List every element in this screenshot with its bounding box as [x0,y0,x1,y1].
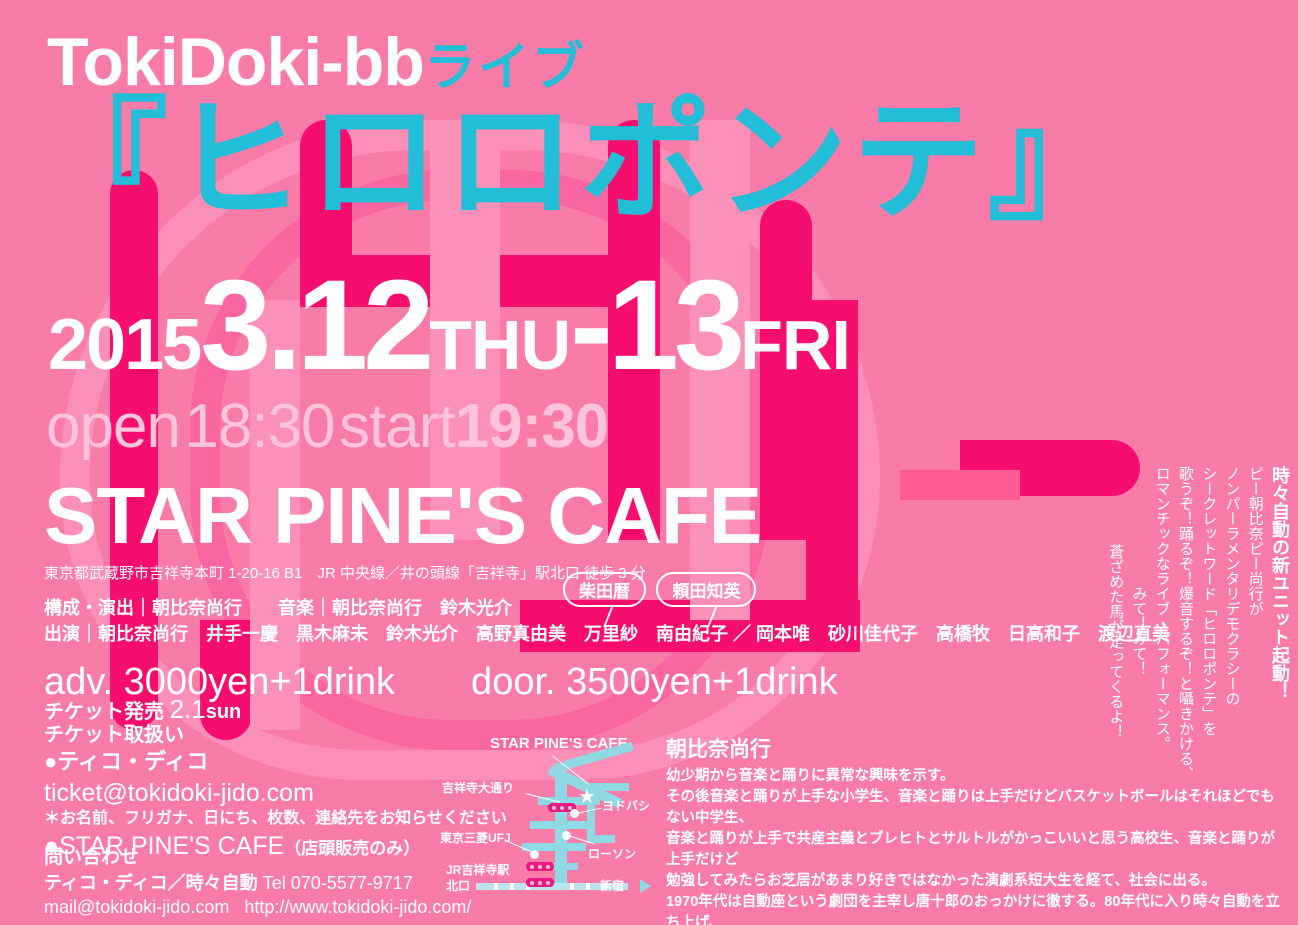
onsale-date: 2.1 [170,694,206,724]
date-dash: - [570,254,608,397]
brand-title: TokiDoki-bbライブ [47,28,586,96]
event-date: 20153.12THU-13FRI [48,262,850,390]
ticket-vendor-1-note: ＊お名前、フリガナ、日にち、枚数、連絡先をお知らせください [44,809,514,830]
map-label-yodobashi: ヨドバシ [602,797,650,814]
start-time: 19:30 [455,392,609,461]
contact-tel: 070-5577-9717 [291,873,413,893]
onsale-line: チケット発売 2.1sun [44,694,241,725]
bio-paragraph-1: その後音楽と踊りが上手な小学生、音楽と踊りは上手だけどバスケットボールはそれほど… [666,787,1282,829]
ribbon-highlight-4 [900,470,1020,500]
map-building-2 [526,862,554,871]
map-rail-tick [570,883,574,890]
bio-paragraph-4: 1970年代は自動座という劇団を主宰し唐十郎のおっかけに徹する。80年代に入り時… [666,892,1282,925]
vertical-column-5: ロマンチックなライブ・パフォーマンス。 [1151,466,1171,751]
show-title: 『ヒロロポンテ』 [36,96,1124,228]
map-rail-tick [586,883,590,890]
date-dow-second: FRI [740,306,850,384]
vertical-column-6: みて！みて！ [1128,586,1148,676]
date-dow-main: THU [429,306,570,384]
map-label-kitaguchi: 北口 [446,877,470,894]
guest-bubble-2-label: 頼田知英 [672,582,740,601]
credits-cast: 出演｜朝比奈尚行 井手一慶 黒木麻未 鈴木光介 高野真由美 万里紗 南由紀子 ／… [44,620,1170,646]
contact-block: 問い合わせ ティコ・ディコ／時々自動 Tel 070-5577-9717 mai… [44,845,514,919]
map-venue-star-icon: ★ [578,787,596,807]
artist-bio: 朝比奈尚行 幼少期から音楽と踊りに異常な興味を示す。 その後音楽と踊りが上手な小… [666,733,1282,925]
date-year: 2015 [48,305,200,385]
guest-bubble-1: 柴田暦 [563,572,646,607]
map-rail-tick [510,883,514,890]
show-times: open 18:30 start19:30 [46,396,608,458]
ticket-vendor-1: ●ティコ・ディコ [44,748,514,777]
contact-heading: 問い合わせ [44,845,514,871]
map-building-3 [526,878,554,887]
onsale-dow: sun [206,701,242,723]
guest-bubble-2: 頼田知英 [656,572,756,607]
onsale-label: チケット発売 [44,701,164,723]
vertical-column-0: 時々自動の新ユニット起動！ [1268,466,1292,700]
map-label-lawson: ローソン [588,845,636,862]
open-label: open [46,392,180,461]
contact-email[interactable]: mail@tokidoki-jido.com [44,897,229,917]
map-label-shinjuku: 新宿 [600,877,624,894]
map-direction-arrow-icon [640,879,651,893]
map-label-kichijoji-odori: 吉祥寺大通り [442,779,514,796]
bio-paragraph-0: 幼少期から音楽と踊りに異常な興味を示す。 [666,766,1282,787]
contact-url[interactable]: http://www.tokidoki-jido.com/ [244,897,471,917]
map-rail-tick [494,883,498,890]
contact-line-2: mail@tokidoki-jido.com http://www.tokido… [44,895,514,919]
map-label-ufj: 東京三菱UFJ [440,829,511,846]
contact-line-1: ティコ・ディコ／時々自動 Tel 070-5577-9717 [44,871,514,895]
location-map: STAR PINE'S CAFE ★ [452,735,668,915]
bio-paragraph-3: 勉強してみたらお芝居があまり好きではなかった演劇系短大生を経て、社会に出る。 [666,871,1282,892]
bio-name: 朝比奈尚行 [666,733,1282,763]
vertical-column-3: シークレットワード「ヒロロポンテ」を [1198,466,1218,736]
vertical-column-7: 蒼ざめた馬が走ってくるよ！ [1105,544,1125,739]
venue-address: 東京都武蔵野市吉祥寺本町 1-20-16 B1 JR 中央線／井の頭線「吉祥寺」… [44,562,646,583]
poster-canvas: TokiDoki-bbライブ 『ヒロロポンテ』 20153.12THU-13FR… [0,0,1298,925]
guest-bubbles: 柴田暦 頼田知英 [563,572,762,607]
vertical-column-2: ノンパーラメンタリデモクラシーの [1221,466,1241,706]
credits-staff: 構成・演出｜朝比奈尚行 音楽｜朝比奈尚行 鈴木光介 [44,594,512,620]
guest-bubble-1-label: 柴田暦 [579,582,630,601]
open-time: 18:30 [184,392,334,461]
date-day-main: 3.12 [200,254,429,397]
map-label-station: JR吉祥寺駅 [446,861,509,878]
vertical-column-1: ピー朝比奈ピー尚行が [1244,466,1264,616]
bio-paragraph-2: 音楽と踊りが上手で共産主義とブレヒトとサルトルがかっこいいと思う高校生、音楽と踊… [666,829,1282,871]
map-road-cross-2 [530,821,588,829]
date-day-second: 13 [608,254,740,397]
contact-org: ティコ・ディコ／時々自動 [44,873,258,893]
tickets-heading: チケット取扱い [44,722,514,748]
contact-tel-label: Tel [263,873,286,893]
start-label: start [339,392,455,461]
venue-name: STAR PINE'S CAFE [44,476,761,556]
